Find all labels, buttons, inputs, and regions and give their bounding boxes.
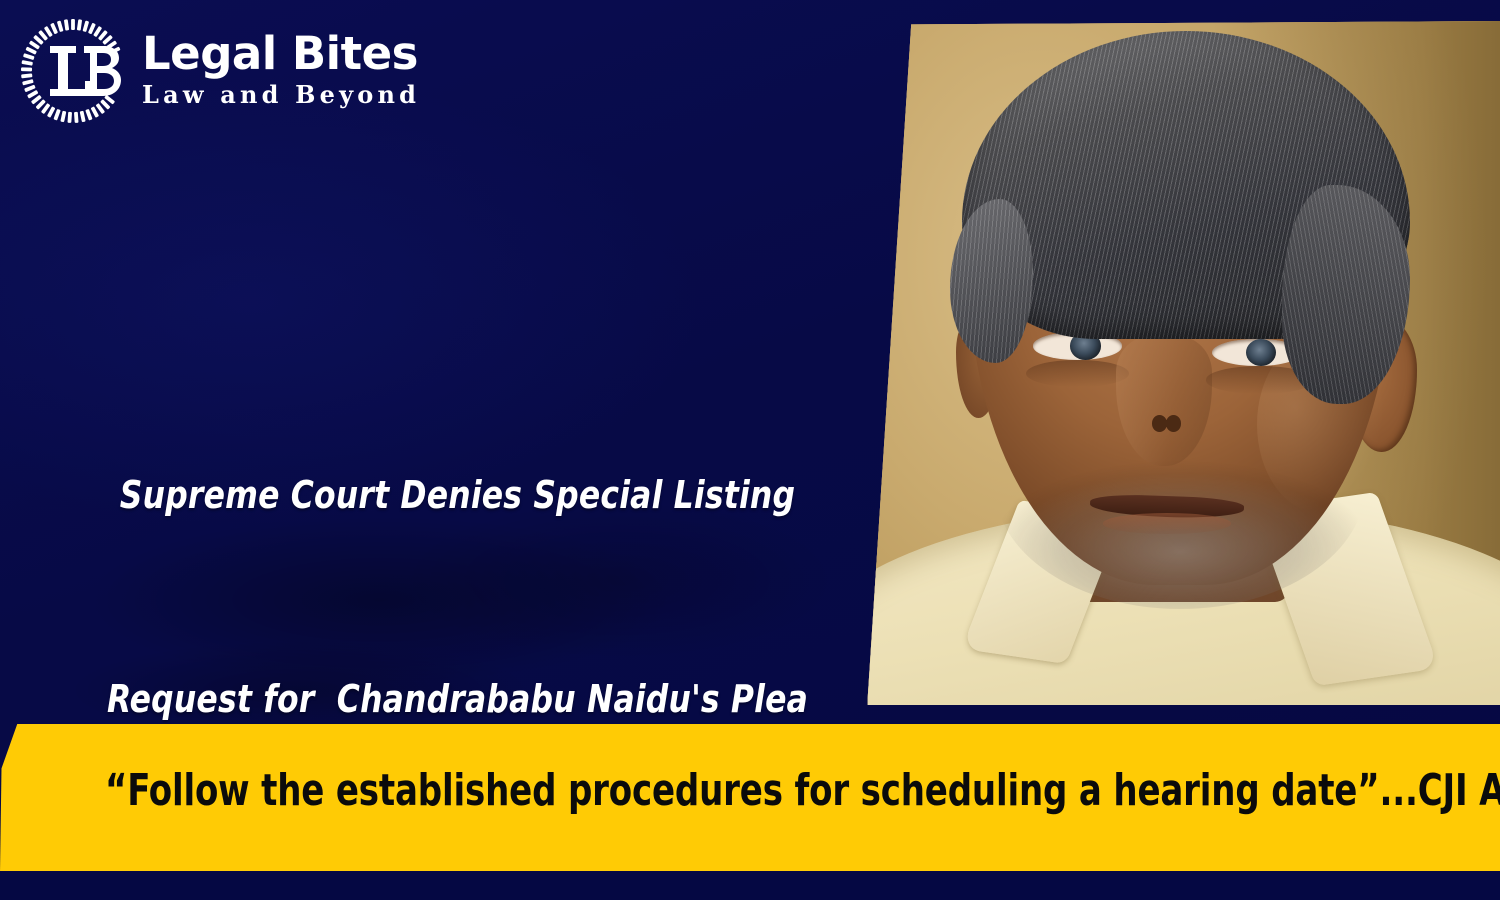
nostril-right	[1166, 415, 1181, 432]
iris-right	[1246, 339, 1276, 366]
brand-name: Legal Bites	[142, 31, 420, 77]
brand-tagline: Law and Beyond	[142, 83, 420, 107]
bottom-strip	[0, 871, 1500, 900]
portrait-figure	[860, 21, 1500, 705]
brand-logo[interactable]: Legal Bites Law and Beyond	[18, 16, 420, 126]
portrait-photo	[860, 21, 1500, 705]
lower-lip	[1103, 513, 1231, 534]
under-eye-left	[1026, 360, 1128, 387]
nostril-left	[1152, 415, 1167, 432]
headline-line-1: Supreme Court Denies Special Listing	[87, 461, 828, 529]
lb-sunburst-logo-icon	[18, 16, 128, 126]
caption-quote: “Follow the established procedures for s…	[105, 762, 1395, 820]
brand-wordmark: Legal Bites Law and Beyond	[142, 31, 420, 112]
news-card: Legal Bites Law and Beyond Supreme Court…	[0, 0, 1500, 900]
